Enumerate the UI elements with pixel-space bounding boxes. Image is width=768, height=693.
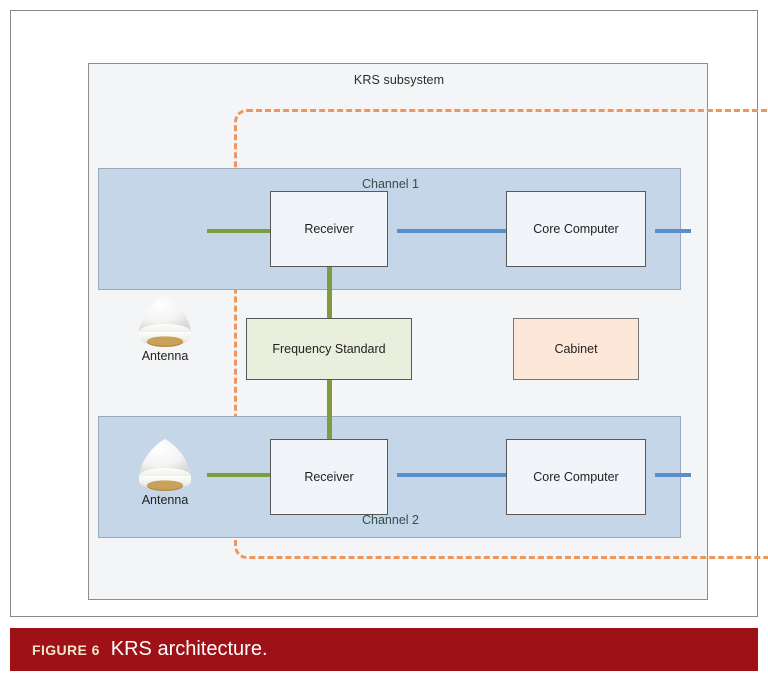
antenna-dome-icon — [131, 437, 199, 493]
antenna-1: Antenna — [123, 291, 207, 369]
receiver-1-to-core-computer-1-link — [397, 229, 517, 233]
receiver-2-box[interactable]: Receiver — [270, 439, 388, 515]
figure-frame: KRS subsystem Elements hosted by Cabinet… — [10, 10, 758, 617]
frequency-standard-box[interactable]: Frequency Standard — [246, 318, 412, 380]
antenna-dome-icon — [131, 293, 199, 349]
krs-subsystem-title: KRS subsystem — [89, 73, 709, 87]
antenna-2-label: Antenna — [123, 493, 207, 507]
core-computer-2-box[interactable]: Core Computer — [506, 439, 646, 515]
core-computer-1-box[interactable]: Core Computer — [506, 191, 646, 267]
antenna-1-label: Antenna — [123, 349, 207, 363]
figure-caption-text: KRS architecture. — [111, 638, 268, 661]
core-computer-2-external-link — [655, 473, 691, 477]
figure-number-label: FIGURE 6 — [32, 642, 100, 658]
krs-subsystem-container: KRS subsystem Elements hosted by Cabinet… — [88, 63, 708, 600]
receiver-2-to-core-computer-2-link — [397, 473, 517, 477]
core-computer-1-external-link — [655, 229, 691, 233]
channel-2-label: Channel 2 — [99, 513, 682, 527]
cabinet-box[interactable]: Cabinet — [513, 318, 639, 380]
antenna-2: Antenna — [123, 435, 207, 513]
figure-caption-bar: FIGURE 6 KRS architecture. — [10, 628, 758, 671]
channel-1-label: Channel 1 — [99, 177, 682, 191]
receiver-1-box[interactable]: Receiver — [270, 191, 388, 267]
